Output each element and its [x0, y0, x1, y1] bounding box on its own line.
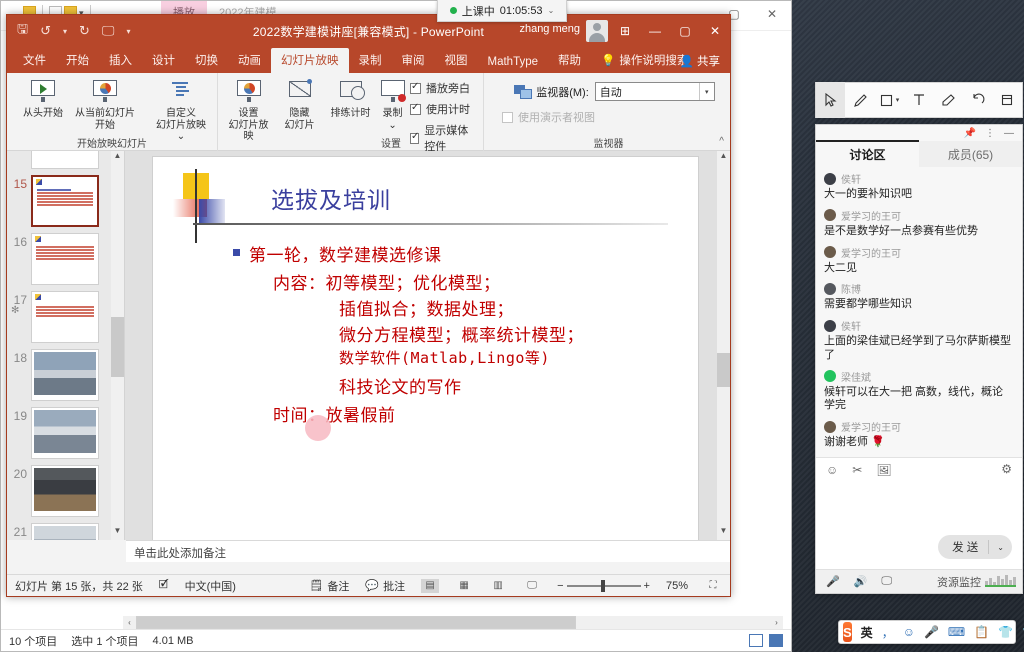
powerpoint-main-area: 14 15 16 17 ✻ [7, 151, 730, 540]
scroll-up-icon[interactable]: ▲ [717, 151, 730, 165]
text-icon[interactable] [904, 82, 933, 118]
zoom-slider[interactable]: − + [557, 580, 650, 592]
tab-view[interactable]: 视图 [435, 48, 478, 73]
normal-view-button[interactable]: ▤ [421, 579, 439, 593]
ime-mode-label[interactable]: 英 [861, 624, 873, 641]
tab-mathtype[interactable]: MathType [478, 52, 549, 73]
share-button[interactable]: 👤 共享 [679, 53, 720, 69]
slide-line-5[interactable]: 科技论文的写作 [339, 373, 462, 398]
custom-slideshow-button[interactable]: 自定义 幻灯片放映 ⌄ [151, 76, 211, 143]
scroll-right-icon[interactable]: › [770, 618, 783, 627]
zoom-out-button[interactable]: − [557, 580, 563, 592]
notes-pane[interactable]: 单击此处添加备注 [126, 540, 730, 562]
tab-animations[interactable]: 动画 [228, 48, 271, 73]
thumbnail-row-19[interactable]: 19 [7, 401, 124, 459]
avatar [824, 173, 836, 185]
from-current-slide-label: 从当前幻灯片 开始 [75, 108, 135, 131]
cursor-icon[interactable] [816, 82, 845, 118]
slide-thumbnail[interactable] [31, 407, 99, 459]
large-icons-view-icon[interactable] [769, 634, 783, 647]
tell-me-label: 操作说明搜索 [619, 55, 688, 67]
slide-thumbnail[interactable] [31, 523, 99, 540]
hide-slide-icon [285, 76, 315, 106]
chat-text: 大一的要补知识吧 [824, 188, 1014, 202]
share-person-icon: 👤 [679, 56, 693, 68]
send-button[interactable]: 发 送 ⌄ [938, 535, 1012, 559]
thumbnail-scrollbar[interactable]: ▲ ▼ [111, 151, 124, 540]
chat-username: 爱学习的王可 [841, 208, 901, 223]
chat-text: 需要都学哪些知识 [824, 298, 1014, 312]
ribbon-tab-strip[interactable]: 文件 开始 插入 设计 切换 动画 幻灯片放映 录制 审阅 视图 MathTyp… [7, 47, 730, 73]
chat-tabs[interactable]: 讨论区 成员(65) [816, 141, 1022, 167]
tab-discussion[interactable]: 讨论区 [816, 141, 919, 167]
image-icon[interactable]: 🖼 [876, 463, 891, 477]
tab-slideshow[interactable]: 幻灯片放映 [271, 48, 349, 73]
slideshow-view-button[interactable]: 🖵 [523, 579, 541, 593]
slide-thumbnail[interactable] [31, 465, 99, 517]
laser-pointer-dot [305, 415, 331, 441]
eraser-icon[interactable] [934, 82, 963, 118]
chat-text: 谢谢老师 🌹 [824, 436, 1014, 450]
setup-slideshow-button[interactable]: 设置 幻灯片放映 [224, 76, 273, 143]
scroll-up-icon[interactable]: ▲ [111, 151, 124, 165]
thumbnail-row-20[interactable]: 20 [7, 459, 124, 517]
notes-icon: 🗒 [309, 579, 323, 592]
thumbnail-row-16[interactable]: 16 [7, 227, 124, 285]
class-status-label: 上课中 [462, 3, 495, 19]
avatar[interactable] [586, 20, 608, 42]
chat-username: 梁佳斌 [841, 369, 871, 384]
explorer-selection-count: 选中 1 个项目 [71, 633, 138, 649]
checkbox-icon [410, 83, 421, 94]
record-icon [378, 76, 408, 106]
thumbnail-row-15[interactable]: 15 [7, 169, 124, 227]
title-divider [193, 223, 668, 225]
record-label: 录制 ⌄ [383, 108, 403, 131]
scrollbar-thumb[interactable] [717, 353, 730, 387]
slide-editing-area[interactable]: 选拔及培训 第一轮，数学建模选修课 内容：初等模型；优化模型； 插值拟合；数据处… [125, 151, 730, 540]
rehearse-timings-button[interactable]: 排练计时 [326, 76, 375, 120]
tab-help[interactable]: 帮助 [548, 48, 591, 73]
slide-thumbnail[interactable] [31, 233, 99, 285]
chat-text: 是不是数学好一点参赛有些优势 [824, 225, 1014, 239]
collapse-ribbon-icon[interactable]: ^ [719, 136, 724, 147]
send-label: 发 送 [938, 539, 988, 555]
slide-number: 18 [9, 349, 31, 365]
tab-members[interactable]: 成员(65) [919, 141, 1022, 167]
avatar [824, 421, 836, 433]
composer-toolbar[interactable]: ☺ ✂ 🖼 ⚙ [816, 458, 1022, 482]
checkbox-play-narrations[interactable]: 播放旁白 [410, 80, 477, 96]
scroll-down-icon[interactable]: ▼ [111, 526, 124, 540]
monitor-label: 监视器(M): [536, 84, 589, 100]
checkbox-icon [410, 104, 421, 115]
tab-insert[interactable]: 插入 [99, 48, 142, 73]
slide-bullet-0[interactable]: 第一轮，数学建模选修课 [249, 241, 442, 266]
from-beginning-button[interactable]: 从头开始 [13, 76, 73, 120]
tab-review[interactable]: 审阅 [392, 48, 435, 73]
language-label[interactable]: 中文(中国) [185, 578, 236, 594]
hide-slide-button[interactable]: 隐藏 幻灯片 [275, 76, 324, 131]
custom-slideshow-icon [166, 76, 196, 106]
emoji-icon[interactable]: ☺ [826, 463, 838, 477]
class-session-bar[interactable]: 上课中 01:05:53 ⌄ [437, 0, 567, 22]
chat-message: 侯轩 上面的梁佳斌已经学到了马尔萨斯模型了 [824, 318, 1014, 363]
explorer-close-button[interactable]: ✕ [753, 1, 791, 27]
checkbox-label: 使用计时 [426, 101, 470, 117]
scroll-left-icon[interactable]: ‹ [123, 618, 136, 627]
account-name[interactable]: zhang meng [519, 23, 580, 35]
slide-thumbnail[interactable] [31, 349, 99, 401]
explorer-status-bar: 10 个项目 选中 1 个项目 4.01 MB [1, 629, 791, 651]
group-label-setup: 设置 [326, 135, 456, 150]
chat-message: 爱学习的王可 谢谢老师 🌹 [824, 419, 1014, 450]
chat-window-tools[interactable]: 📌 ⋮ — [816, 125, 1022, 141]
monitor-icon [514, 85, 530, 98]
group-label-monitors: 监视器 [484, 135, 733, 150]
avatar [824, 283, 836, 295]
chat-composer[interactable]: ☺ ✂ 🖼 ⚙ 发 送 ⌄ [816, 457, 1022, 569]
checkbox-use-timings[interactable]: 使用计时 [410, 101, 477, 117]
slide-vertical-scrollbar[interactable]: ▲ ▼ [717, 151, 730, 540]
clipboard-icon[interactable]: 📋 [974, 625, 989, 639]
from-beginning-label: 从头开始 [23, 108, 63, 120]
pin-icon[interactable]: 📌 [964, 128, 976, 139]
explorer-horizontal-scrollbar[interactable]: ‹ › [123, 616, 783, 629]
thumbnail-row-21[interactable]: 21 [7, 517, 124, 540]
from-current-slide-button[interactable]: 从当前幻灯片 开始 [75, 76, 135, 131]
tab-home[interactable]: 开始 [56, 48, 99, 73]
chat-message-list[interactable]: 侯轩 大一的要补知识吧 爱学习的王可 是不是数学好一点参赛有些优势 爱学习的王可… [816, 167, 1022, 457]
notes-label: 备注 [327, 578, 349, 594]
slide-number: 15 [9, 175, 31, 191]
details-view-icon[interactable] [749, 634, 763, 647]
chevron-down-icon[interactable]: ▾ [699, 83, 714, 100]
slide-thumbnail-selected[interactable] [31, 175, 99, 227]
slide-line-4[interactable]: 数学软件(Matlab,Lingo等) [339, 347, 550, 368]
maximize-button[interactable]: ▢ [670, 15, 700, 47]
ribbon[interactable]: 从头开始 从当前幻灯片 开始 自定义 幻灯片放映 ⌄ 开始放映幻灯片 [7, 73, 730, 151]
slide-number: 20 [9, 465, 31, 481]
chat-username: 爱学习的王可 [841, 245, 901, 260]
scrollbar-track[interactable] [111, 165, 124, 526]
comment-icon: 💬 [365, 579, 379, 592]
gear-icon[interactable]: ⚙ [1001, 462, 1012, 476]
zoom-level[interactable]: 75% [666, 580, 688, 592]
notes-button[interactable]: 🗒备注 [309, 578, 349, 594]
hide-slide-label: 隐藏 幻灯片 [285, 108, 315, 131]
close-button[interactable]: ✕ [700, 15, 730, 47]
minimize-icon[interactable]: — [1004, 128, 1014, 139]
chat-message: 爱学习的王可 是不是数学好一点参赛有些优势 [824, 208, 1014, 239]
scissors-icon[interactable]: ✂ [852, 463, 862, 477]
slide-line-1[interactable]: 内容：初等模型；优化模型； [273, 269, 501, 294]
reading-view-button[interactable]: ▥ [489, 579, 507, 593]
tab-file[interactable]: 文件 [13, 48, 56, 73]
slide-line-2[interactable]: 插值拟合；数据处理； [339, 295, 514, 320]
tab-transitions[interactable]: 切换 [185, 48, 228, 73]
slide-number: 21 [9, 523, 31, 539]
setup-slideshow-label: 设置 幻灯片放映 [224, 108, 273, 143]
chevron-down-icon[interactable]: ⌄ [989, 543, 1012, 552]
bullet-marker-icon [233, 249, 240, 256]
slide-thumbnail[interactable] [31, 151, 99, 169]
checkbox-icon [502, 112, 513, 123]
mic-icon[interactable]: 🎤 [924, 625, 939, 639]
share-label: 共享 [697, 56, 720, 68]
explorer-selection-size: 4.01 MB [153, 635, 194, 647]
avatar [824, 320, 836, 332]
powerpoint-titlebar[interactable]: 🖫 ↺ ▾ ↻ 🖵 ▾ 2022数学建模讲座[兼容模式] - PowerPoin… [7, 15, 730, 47]
chevron-down-icon[interactable]: ⌄ [548, 6, 555, 15]
slide-line-6[interactable]: 时间：放暑假前 [273, 401, 396, 426]
record-button[interactable]: 录制 ⌄ [377, 76, 408, 131]
powerpoint-window-controls[interactable]: ⊞ — ▢ ✕ [610, 15, 730, 47]
pen-icon[interactable] [845, 82, 874, 118]
from-beginning-icon [28, 76, 58, 106]
thumbnail-row-14[interactable]: 14 [7, 151, 124, 169]
avatar [824, 246, 836, 258]
undo-icon[interactable] [963, 82, 992, 118]
monitor-select[interactable]: 自动 ▾ [595, 82, 715, 101]
checkbox-label: 使用演示者视图 [518, 109, 595, 125]
monitor-select-value: 自动 [600, 84, 622, 100]
annotation-toolbar[interactable]: ▾ [815, 82, 1023, 118]
live-status-dot-icon [450, 7, 457, 14]
ime-toolbar[interactable]: S 英 ， ☺ 🎤 ⌨ 📋 👕 🔧 [838, 620, 1016, 644]
ribbon-display-options-icon[interactable]: ⊞ [610, 15, 640, 47]
chat-username: 爱学习的王可 [841, 419, 901, 434]
setup-slideshow-icon [234, 76, 264, 106]
chat-message: 爱学习的王可 大二见 [824, 245, 1014, 276]
resource-monitor-graph [985, 576, 1016, 587]
emoji-icon[interactable]: ☺ [903, 625, 915, 639]
spellcheck-icon[interactable]: 🗹 [159, 576, 169, 595]
speaker-icon[interactable]: 🔊 [854, 575, 868, 588]
rehearse-timings-icon [336, 76, 366, 106]
ribbon-group-setup: 设置 幻灯片放映 隐藏 幻灯片 排练计时 [217, 73, 483, 151]
delete-icon[interactable] [993, 82, 1022, 118]
chat-message: 梁佳斌 候轩可以在大一把 高数，线代，概论学完 [824, 369, 1014, 414]
slide-thumbnail-pane[interactable]: 14 15 16 17 ✻ [7, 151, 125, 540]
chevron-down-icon[interactable]: ▾ [896, 96, 900, 104]
group-label-start-slideshow: 开始放映幻灯片 [7, 135, 217, 150]
tab-design[interactable]: 设计 [142, 48, 185, 73]
scrollbar-thumb[interactable] [111, 317, 124, 377]
explorer-item-count: 10 个项目 [9, 633, 57, 649]
slide-thumbnail[interactable] [31, 291, 99, 343]
fit-slide-button[interactable]: ⛶ [704, 579, 722, 593]
zoom-knob[interactable] [601, 580, 605, 592]
zoom-track[interactable] [567, 585, 641, 587]
scroll-down-icon[interactable]: ▼ [717, 526, 730, 540]
skin-icon[interactable]: 👕 [998, 625, 1013, 639]
screen-share-off-icon[interactable]: 🖵 [881, 575, 892, 588]
resource-monitor-label: 资源监控 [937, 574, 981, 590]
slide-number: 16 [9, 233, 31, 249]
chat-username: 侯轩 [841, 171, 861, 186]
chat-text: 候轩可以在大一把 高数，线代，概论学完 [824, 386, 1014, 414]
comments-label: 批注 [383, 578, 405, 594]
class-chat-panel[interactable]: 📌 ⋮ — 讨论区 成员(65) 侯轩 大一的要补知识吧 爱学习的王可 是不是数… [815, 124, 1023, 594]
rehearse-timings-label: 排练计时 [331, 108, 371, 120]
powerpoint-window[interactable]: 🖫 ↺ ▾ ↻ 🖵 ▾ 2022数学建模讲座[兼容模式] - PowerPoin… [6, 14, 731, 597]
thumbnail-row-17[interactable]: 17 ✻ [7, 285, 124, 343]
avatar [824, 209, 836, 221]
chat-username: 陈博 [841, 281, 861, 296]
chat-message: 侯轩 大一的要补知识吧 [824, 171, 1014, 202]
chat-username: 侯轩 [841, 318, 861, 333]
animation-star-icon: ✻ [11, 305, 19, 316]
scrollbar-track[interactable] [717, 165, 730, 526]
ribbon-group-monitors: 监视器(M): 自动 ▾ 使用演示者视图 监视器 [483, 73, 733, 151]
chat-text: 上面的梁佳斌已经学到了马尔萨斯模型了 [824, 335, 1014, 363]
shape-icon[interactable]: ▾ [875, 82, 904, 118]
tab-record[interactable]: 录制 [349, 48, 392, 73]
current-slide[interactable]: 选拔及培训 第一轮，数学建模选修课 内容：初等模型；优化模型； 插值拟合；数据处… [153, 157, 698, 540]
slide-title[interactable]: 选拔及培训 [271, 181, 391, 215]
chat-footer-bar[interactable]: 🎤 🔊 🖵 资源监控 [816, 569, 1022, 593]
comma-icon[interactable]: ， [882, 624, 894, 641]
zoom-in-button[interactable]: + [644, 580, 650, 592]
slide-position-label: 幻灯片 第 15 张，共 22 张 [15, 578, 143, 594]
minimize-button[interactable]: — [640, 15, 670, 47]
slide-line-3[interactable]: 微分方程模型；概率统计模型； [339, 321, 584, 346]
slide-decoration-icon [173, 173, 233, 235]
more-icon[interactable]: ⋮ [985, 128, 995, 139]
from-current-slide-icon [90, 76, 120, 106]
comments-button[interactable]: 💬批注 [365, 578, 405, 594]
chat-text: 大二见 [824, 262, 1014, 276]
slide-sorter-view-button[interactable]: ▦ [455, 579, 473, 593]
keyboard-icon[interactable]: ⌨ [948, 625, 965, 639]
checkbox-label: 播放旁白 [426, 80, 470, 96]
chat-message: 陈博 需要都学哪些知识 [824, 281, 1014, 312]
powerpoint-status-bar: 幻灯片 第 15 张，共 22 张 🗹 中文(中国) 🗒备注 💬批注 ▤ ▦ ▥… [7, 574, 730, 596]
avatar [824, 370, 836, 382]
mic-icon[interactable]: 🎤 [826, 575, 840, 588]
slide-number: 19 [9, 407, 31, 423]
ribbon-group-start-slideshow: 从头开始 从当前幻灯片 开始 自定义 幻灯片放映 ⌄ 开始放映幻灯片 [7, 73, 217, 151]
thumbnail-row-18[interactable]: 18 [7, 343, 124, 401]
lightbulb-icon: 💡 [601, 55, 615, 67]
checkbox-presenter-view[interactable]: 使用演示者视图 [502, 109, 595, 125]
scrollbar-thumb[interactable] [136, 616, 576, 629]
class-timer: 01:05:53 [500, 5, 543, 17]
monitor-row[interactable]: 监视器(M): 自动 ▾ [510, 76, 715, 101]
sogou-logo-icon[interactable]: S [843, 622, 852, 642]
